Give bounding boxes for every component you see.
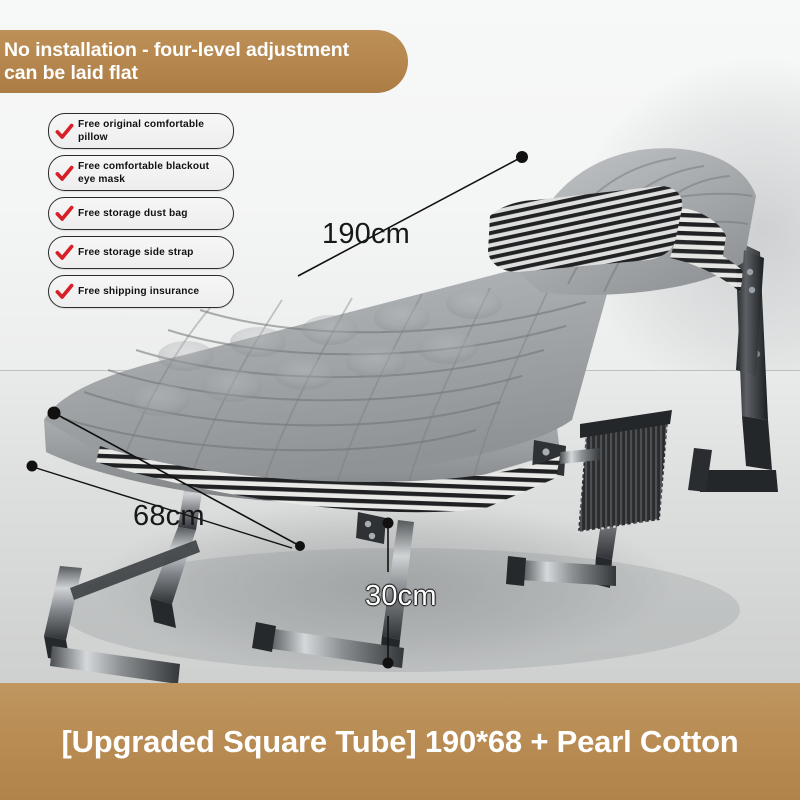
feature-label: Free comfortable blackout eye mask bbox=[78, 160, 225, 186]
check-icon bbox=[55, 243, 74, 262]
feature-label: Free shipping insurance bbox=[78, 285, 199, 298]
top-headline-text: No installation - four-level adjustment … bbox=[4, 39, 349, 85]
feature-item[interactable]: Free storage side strap bbox=[48, 236, 234, 269]
dimension-label-height: 30cm bbox=[365, 580, 437, 613]
feature-item[interactable]: Free comfortable blackout eye mask bbox=[48, 155, 234, 191]
top-headline-line1: No installation - four-level adjustment bbox=[4, 39, 349, 62]
check-icon bbox=[55, 164, 74, 183]
feature-item[interactable]: Free original comfortable pillow bbox=[48, 113, 234, 149]
dimension-label-width: 68cm bbox=[133, 500, 205, 533]
check-icon bbox=[55, 122, 74, 141]
bottom-variant-text: [Upgraded Square Tube] 190*68 + Pearl Co… bbox=[61, 724, 738, 760]
product-image: 190cm 68cm 30cm No installation - four-l… bbox=[0, 0, 800, 800]
feature-checklist: Free original comfortable pillow Free co… bbox=[48, 113, 234, 308]
feature-item[interactable]: Free storage dust bag bbox=[48, 197, 234, 230]
top-headline-banner: No installation - four-level adjustment … bbox=[0, 30, 408, 93]
feature-label: Free original comfortable pillow bbox=[78, 118, 225, 144]
feature-item[interactable]: Free shipping insurance bbox=[48, 275, 234, 308]
dimension-label-length: 190cm bbox=[322, 218, 410, 251]
check-icon bbox=[55, 204, 74, 223]
feature-label: Free storage dust bag bbox=[78, 207, 188, 220]
check-icon bbox=[55, 282, 74, 301]
top-headline-line2: can be laid flat bbox=[4, 62, 349, 85]
bottom-variant-banner: [Upgraded Square Tube] 190*68 + Pearl Co… bbox=[0, 683, 800, 800]
feature-label: Free storage side strap bbox=[78, 246, 194, 259]
